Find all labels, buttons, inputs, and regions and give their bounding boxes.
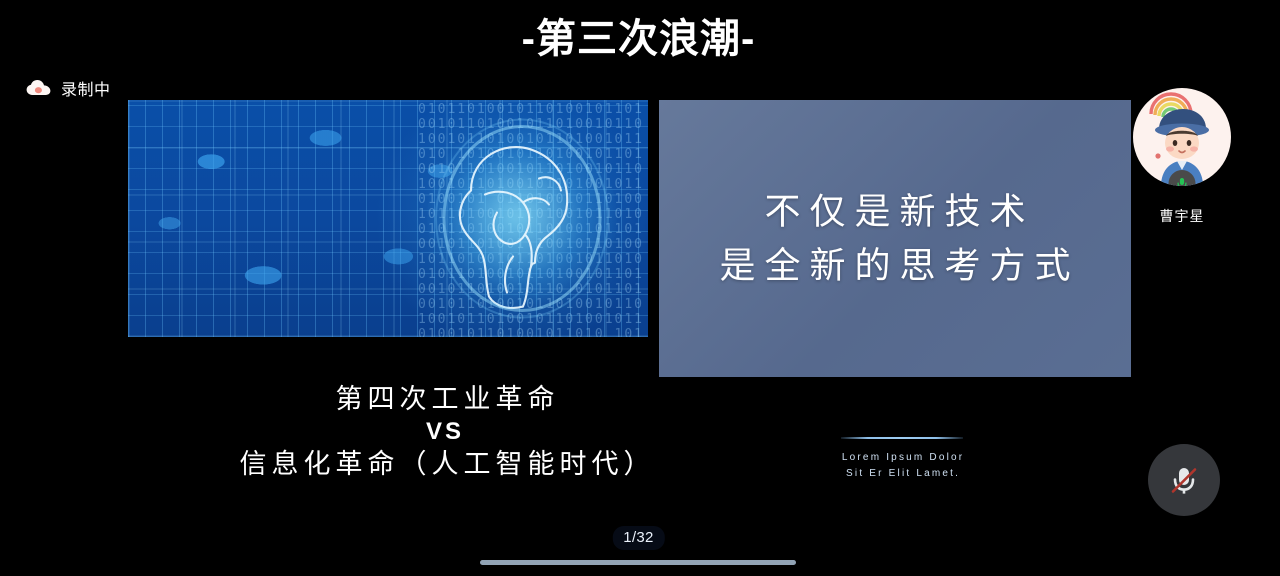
lorem-line-1: Lorem Ipsum Dolor (822, 450, 982, 466)
presentation-slide[interactable]: -第三次浪潮- 01011010010110100101101001011010… (125, 0, 1152, 576)
participant-tile[interactable]: 曹宇星 (1133, 88, 1231, 226)
cloud-icon (26, 79, 52, 97)
meeting-screen-share-view: -第三次浪潮- 01011010010110100101101001011010… (0, 0, 1280, 576)
headline-line-3: 信息化革命（人工智能时代） (125, 447, 765, 482)
slide-progress-fill (480, 560, 796, 565)
headline-line-1: 第四次工业革命 (125, 382, 765, 417)
brain-silhouette (427, 116, 617, 321)
quote-line-2: 是全新的思考方式 (659, 239, 1131, 294)
participant-name: 曹宇星 (1133, 206, 1231, 226)
quote-line-1: 不仅是新技术 (659, 184, 1131, 239)
lorem-placeholder-block: Lorem Ipsum Dolor Sit Er Elit Lamet. (822, 437, 982, 481)
headline-line-2: VS (125, 417, 765, 448)
recording-indicator[interactable]: 录制中 (26, 76, 111, 100)
microphone-muted-icon[interactable] (1148, 444, 1220, 516)
slide-title: -第三次浪潮- (125, 6, 1152, 64)
recording-label: 录制中 (61, 76, 111, 100)
page-indicator: 1/32 (612, 526, 664, 550)
quote-panel: 不仅是新技术 是全新的思考方式 (659, 100, 1131, 377)
avatar (1133, 88, 1231, 186)
headline-block: 第四次工业革命 VS 信息化革命（人工智能时代） (125, 382, 765, 482)
slide-progress-bar[interactable] (480, 560, 796, 565)
circuit-board-brain-image: 0101101001011010010110100101101001011010… (128, 100, 648, 337)
quote-text: 不仅是新技术 是全新的思考方式 (659, 184, 1131, 293)
lorem-divider (841, 437, 963, 439)
lorem-line-2: Sit Er Elit Lamet. (822, 466, 982, 482)
